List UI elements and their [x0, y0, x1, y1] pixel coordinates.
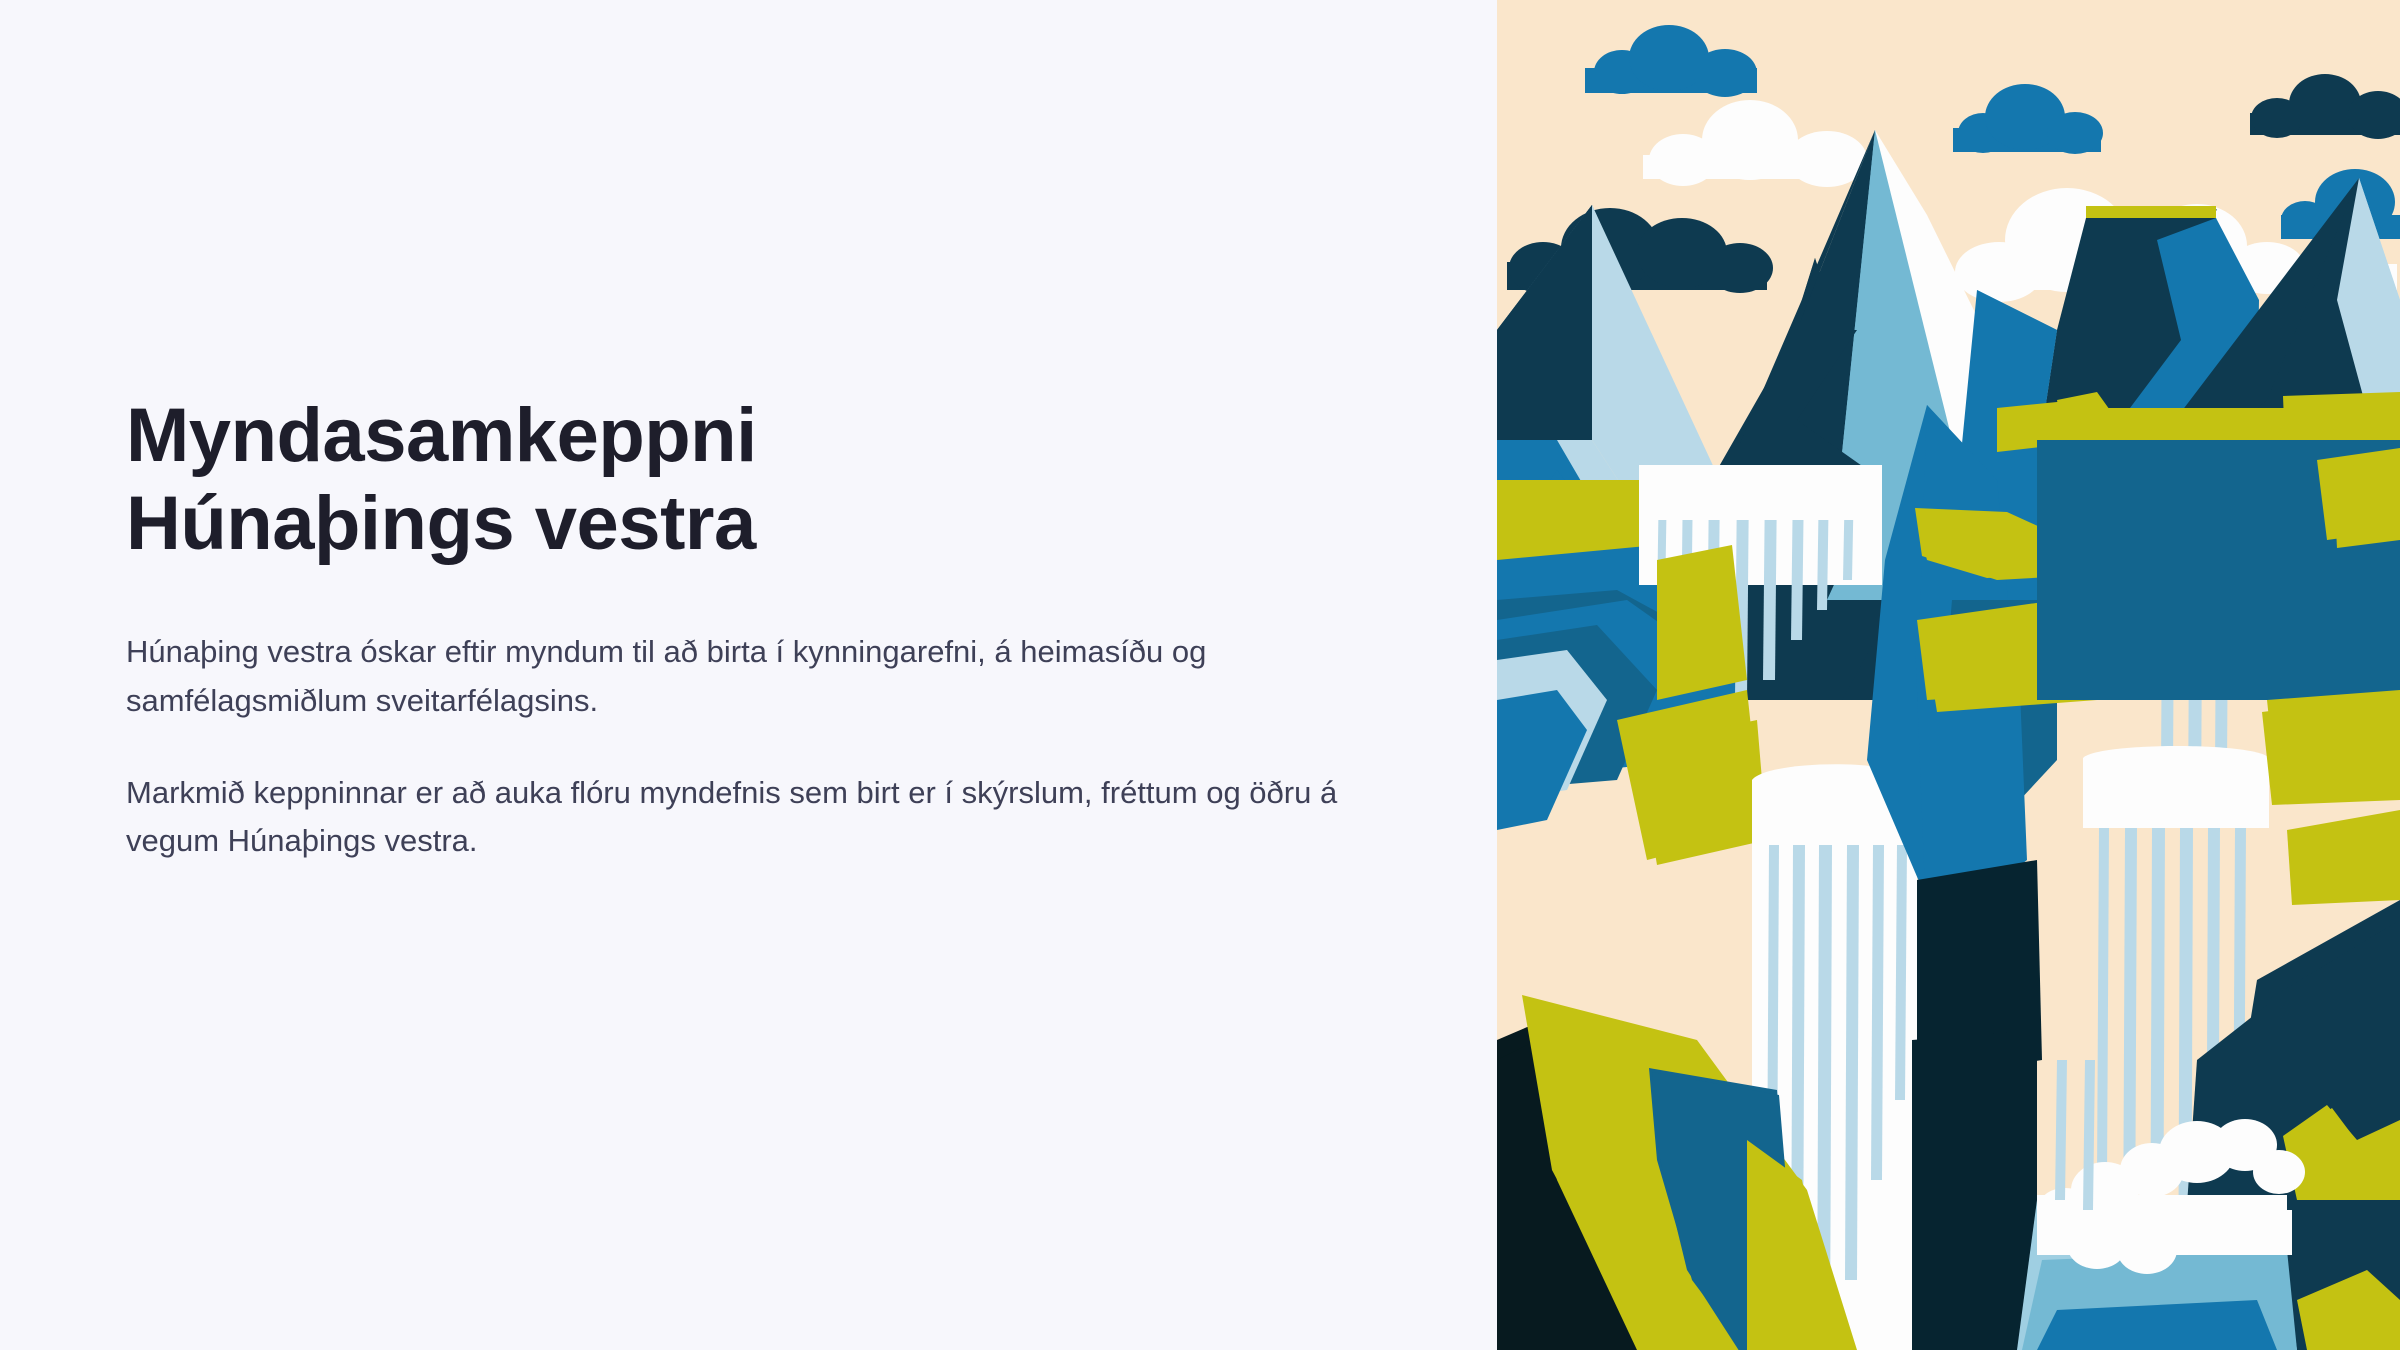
page-title: Myndasamkeppni Húnaþings vestra [126, 392, 1406, 568]
text-panel: Myndasamkeppni Húnaþings vestra Húnaþing… [0, 0, 1497, 1350]
illustration-panel [1497, 0, 2400, 1350]
landscape-illustration [1497, 0, 2400, 1350]
body-paragraph-1: Húnaþing vestra óskar eftir myndum til a… [126, 628, 1366, 725]
text-content: Myndasamkeppni Húnaþings vestra Húnaþing… [126, 392, 1406, 866]
waterfall-upper-left-veil [1639, 465, 1882, 520]
slide-root: Myndasamkeppni Húnaþings vestra Húnaþing… [0, 0, 2400, 1350]
body-paragraph-2: Markmið keppninnar er að auka flóru mynd… [126, 769, 1366, 866]
body-copy: Húnaþing vestra óskar eftir myndum til a… [126, 628, 1406, 865]
